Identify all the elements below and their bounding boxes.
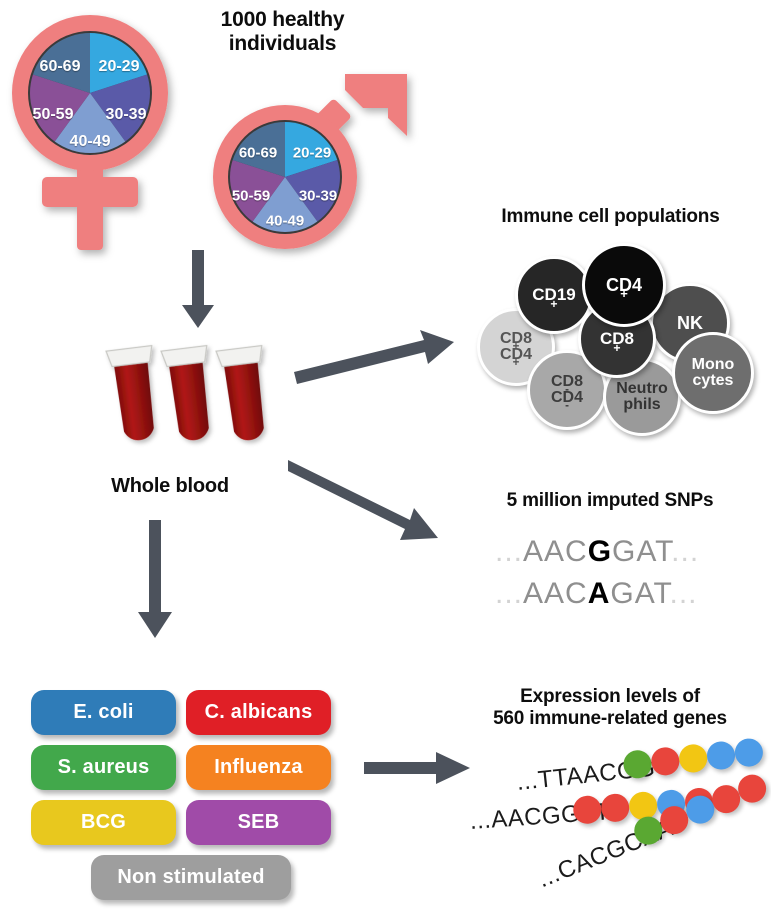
- snp-suffix: ...: [670, 577, 698, 610]
- stimulation-pill-s-aureus[interactable]: S. aureus: [31, 745, 176, 790]
- cohort-title: 1000 healthy individuals: [175, 8, 390, 56]
- pie-label-male-50-59: 50-59: [232, 188, 270, 205]
- stimulation-pill-c-albicans[interactable]: C. albicans: [186, 690, 331, 735]
- stimulation-pill-seb[interactable]: SEB: [186, 800, 331, 845]
- expression-bead: [706, 740, 737, 771]
- immune-cell-neutrophils-label2: phils: [623, 397, 660, 413]
- immune-cell-monocytes-label2: cytes: [693, 373, 734, 389]
- expression-section-title: Expression levels of 560 immune-related …: [455, 686, 765, 730]
- cohort-title-line2: individuals: [175, 32, 390, 56]
- immune-cell-nk-label: NK: [677, 314, 703, 332]
- immune-cell-neutrophils-label: Neutro: [616, 381, 668, 397]
- cohort-title-line1: 1000 healthy: [175, 8, 390, 32]
- pie-label-40-49: 40-49: [70, 133, 111, 151]
- immune-cell-group: CD19+ CD4+ NK CD8+ CD8+ CD4+ CD8- CD4- N…: [460, 240, 760, 420]
- pie-label-male-40-49: 40-49: [266, 213, 304, 230]
- pie-label-male-30-39: 30-39: [299, 188, 337, 205]
- blood-tube: [161, 346, 218, 443]
- arrow-blood-to-stimulation: [135, 520, 175, 640]
- arrow-stimulation-to-expression: [364, 752, 474, 784]
- immune-cell-cd4: CD4+: [582, 243, 666, 327]
- snp-suffix: ...: [671, 535, 699, 568]
- immune-cell-monocytes: Mono cytes: [672, 332, 754, 414]
- figure-canvas: 20-29 30-39 40-49 50-59 60-69 1000 healt…: [0, 0, 771, 922]
- snp-right: GAT: [610, 577, 669, 610]
- expression-bead: [678, 743, 709, 774]
- pie-label-30-39: 30-39: [106, 106, 147, 124]
- pie-label-60-69: 60-69: [40, 58, 81, 76]
- snp-prefix: ...: [495, 577, 523, 610]
- expression-title-line1: Expression levels of: [455, 686, 765, 708]
- female-symbol: 20-29 30-39 40-49 50-59 60-69: [8, 10, 188, 260]
- snp-sequence-row: ...AACAGAT...: [495, 577, 698, 611]
- expression-bead: [733, 737, 764, 768]
- expression-title-line2: 560 immune-related genes: [455, 708, 765, 730]
- pie-label-20-29: 20-29: [99, 58, 140, 76]
- arrow-cohort-to-blood: [178, 250, 218, 330]
- arrow-blood-to-immune: [292, 330, 457, 385]
- snp-prefix: ...: [495, 535, 523, 568]
- snp-sequence-row: ...AACGGAT...: [495, 535, 699, 569]
- stimulation-pill-non-stimulated[interactable]: Non stimulated: [91, 855, 291, 900]
- blood-tube: [216, 346, 273, 443]
- pie-label-50-59: 50-59: [33, 106, 74, 124]
- stimulation-pill-e-coli[interactable]: E. coli: [31, 690, 176, 735]
- snp-variant-a: A: [588, 577, 611, 610]
- snp-right: GAT: [612, 535, 671, 568]
- whole-blood-label: Whole blood: [70, 475, 270, 498]
- blood-tubes: [100, 338, 280, 463]
- snp-variant-g: G: [588, 535, 612, 568]
- pie-label-male-20-29: 20-29: [293, 145, 331, 162]
- pie-label-male-60-69: 60-69: [239, 145, 277, 162]
- snp-section-title: 5 million imputed SNPs: [460, 490, 760, 512]
- arrow-blood-to-snp: [288, 458, 448, 543]
- snp-left: AAC: [523, 577, 588, 610]
- stimulation-pill-influenza[interactable]: Influenza: [186, 745, 331, 790]
- snp-left: AAC: [523, 535, 588, 568]
- male-symbol: 20-29 30-39 40-49 50-59 60-69: [200, 72, 420, 252]
- blood-tube: [106, 346, 163, 443]
- immune-cell-monocytes-label: Mono: [692, 357, 735, 373]
- stimulation-pill-bcg[interactable]: BCG: [31, 800, 176, 845]
- immune-section-title: Immune cell populations: [458, 206, 763, 228]
